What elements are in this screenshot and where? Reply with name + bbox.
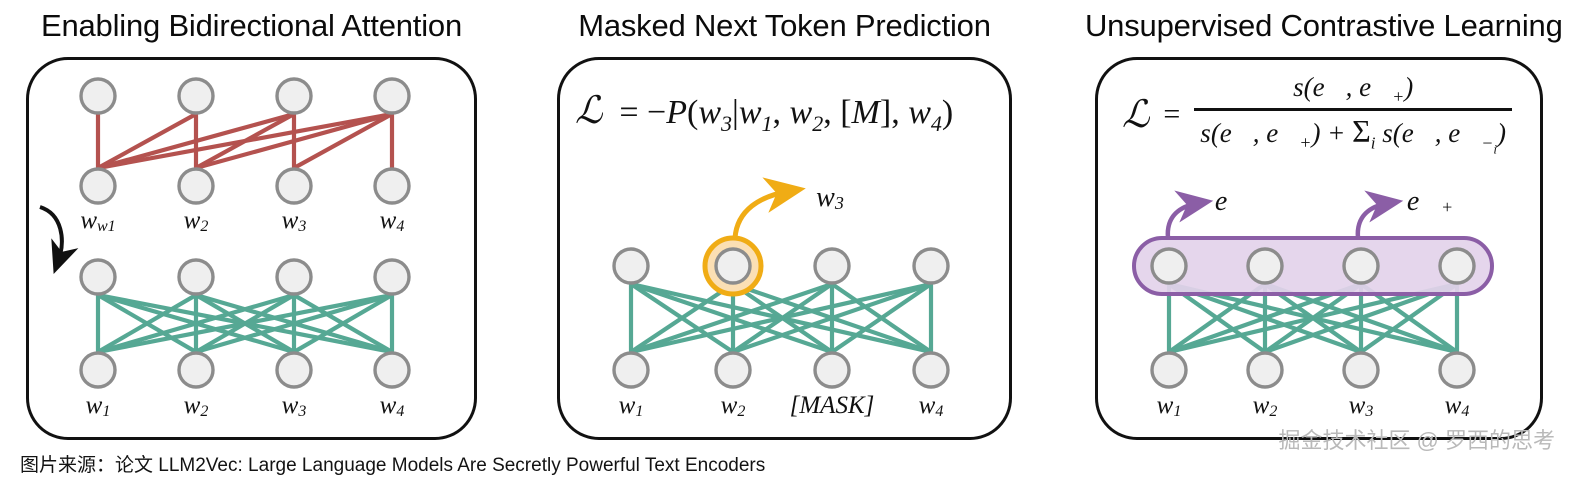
panel1-bottom-label-w3: w3 <box>282 392 307 421</box>
panel1-top-label-w4: w4 <box>380 207 405 236</box>
panel3-bottom-label-w4: w4 <box>1445 392 1470 421</box>
panel2-bottom-label-mask: [MASK] <box>790 392 875 420</box>
panel3-embedding-label-e-plus: e⃗+ <box>1407 186 1453 218</box>
panel1-top-label-w3: w3 <box>282 207 307 236</box>
panel2-bottom-label-w1: w1 <box>619 392 644 421</box>
panel1-bottom-label-w2: w2 <box>184 392 209 421</box>
panel2-bottom-label-w4: w4 <box>919 392 944 421</box>
panel3-loss-formula: ℒ = s(e⃗, e⃗+) s(e⃗, e⃗+) + Σi s(e⃗, e⃗−… <box>1122 72 1512 157</box>
panel2-loss-formula: ℒ = −P(w3|w1, w2, [M], w4) <box>575 88 953 137</box>
watermark: 掘金技术社区 @ 罗西的思考 <box>1278 423 1555 455</box>
panel2-prediction-label: w3 <box>816 182 844 214</box>
figure-source-caption: 图片来源：论文 LLM2Vec: Large Language Models A… <box>20 450 765 477</box>
panel3-bottom-label-w3: w3 <box>1349 392 1374 421</box>
panel-box-bidirectional-attention <box>26 57 477 440</box>
panel1-top-label-w1: ww1 <box>80 207 115 236</box>
panel-title-3: Unsupervised Contrastive Learning <box>1085 6 1547 46</box>
panel3-embedding-label-e: e⃗ <box>1215 186 1249 218</box>
panel3-bottom-label-w1: w1 <box>1157 392 1182 421</box>
panel3-bottom-label-w2: w2 <box>1253 392 1278 421</box>
panel2-bottom-label-w2: w2 <box>721 392 746 421</box>
panel1-bottom-label-w4: w4 <box>380 392 405 421</box>
panel-title-1: Enabling Bidirectional Attention <box>26 6 477 46</box>
panel-title-2: Masked Next Token Prediction <box>557 6 1012 46</box>
panel1-bottom-label-w1: w1 <box>86 392 111 421</box>
panel1-top-label-w2: w2 <box>184 207 209 236</box>
